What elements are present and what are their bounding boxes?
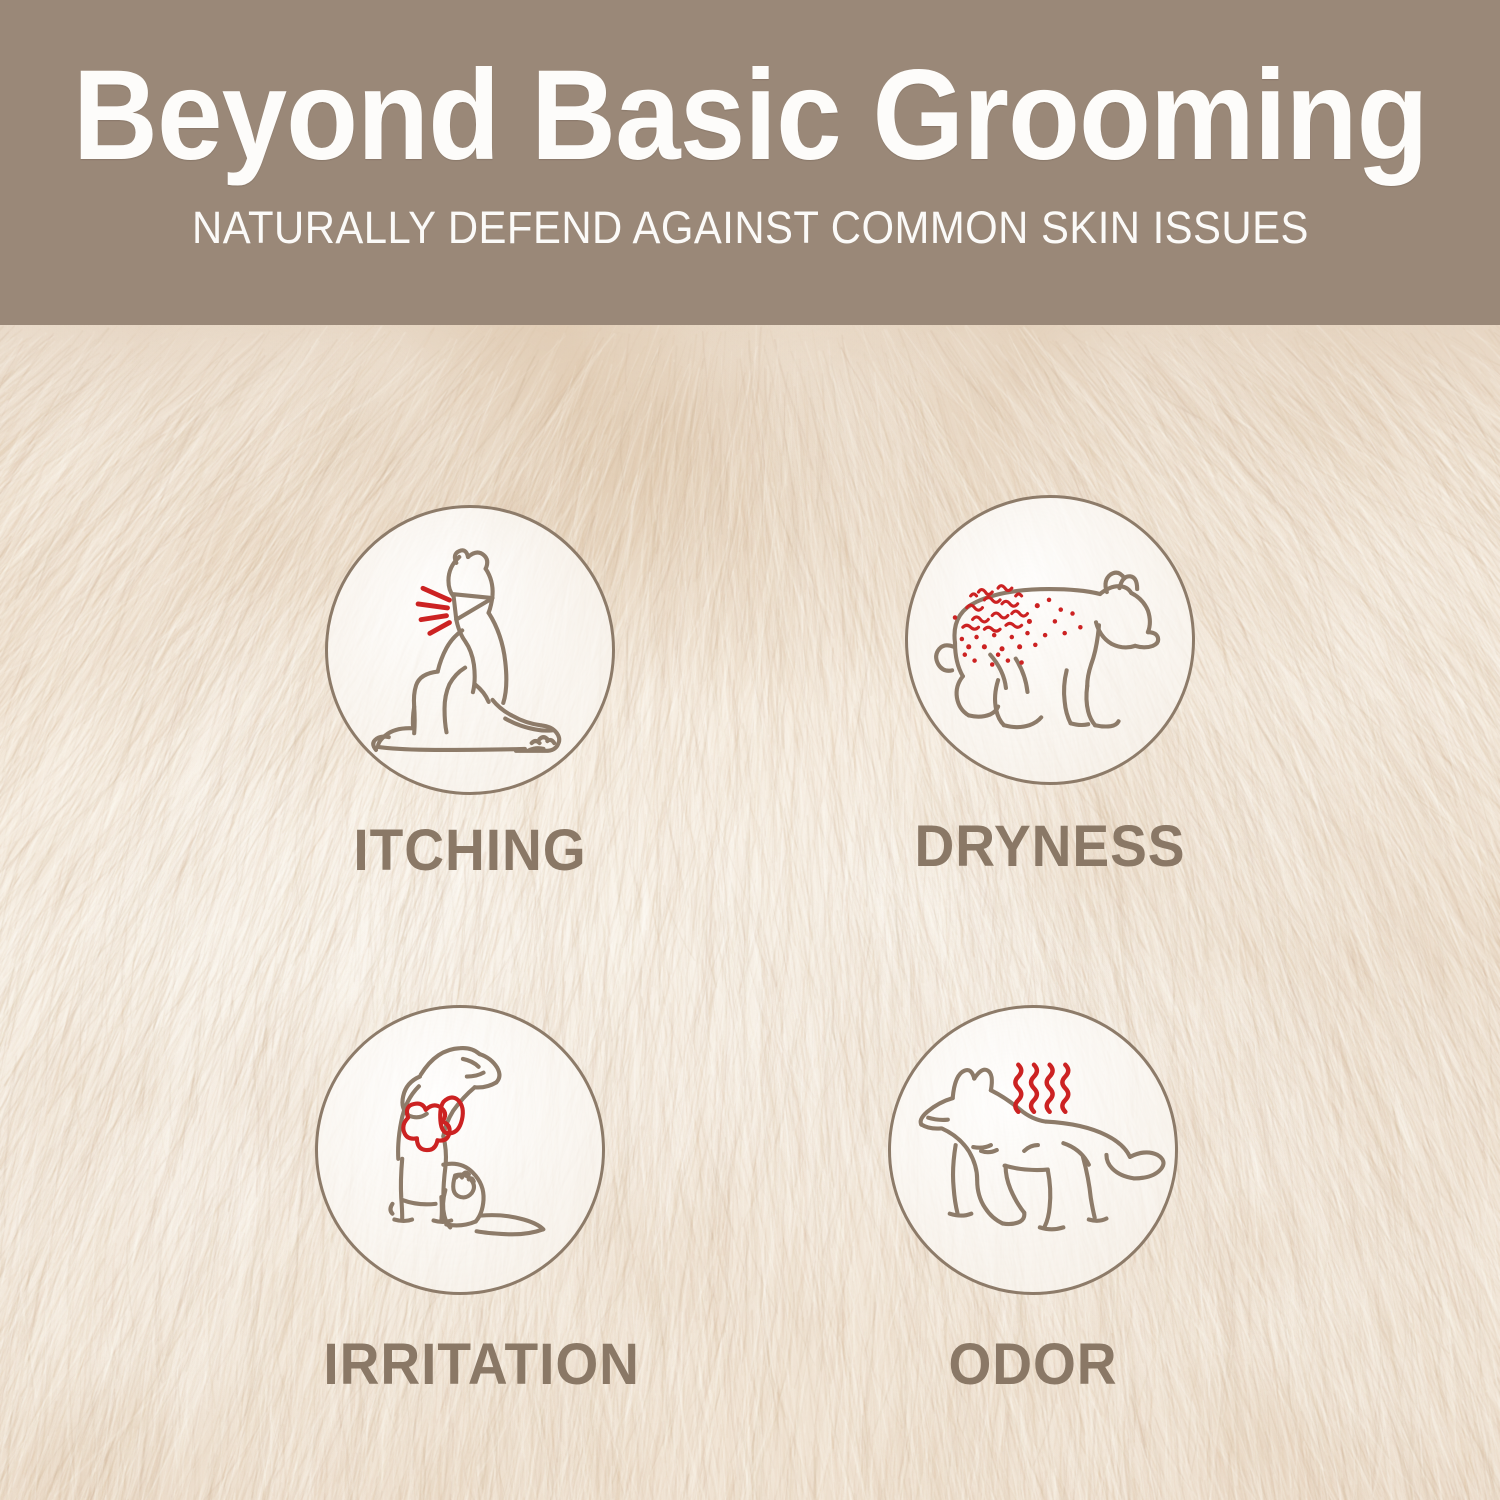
feature-grid: ITCHING	[0, 325, 1500, 1500]
promo-graphic: Beyond Basic Grooming NATURALLY DEFEND A…	[0, 0, 1500, 1500]
feature-label-odor: ODOR	[895, 1331, 1171, 1398]
dog-irritated-patch-icon	[315, 1005, 605, 1295]
feature-item-itching: ITCHING	[325, 505, 615, 884]
feature-label-itching: ITCHING	[332, 817, 608, 884]
dog-odor-icon	[888, 1005, 1178, 1295]
feature-label-irritation: IRRITATION	[323, 1331, 640, 1398]
page-subtitle: NATURALLY DEFEND AGAINST COMMON SKIN ISS…	[192, 180, 1309, 254]
feature-item-irritation: IRRITATION	[315, 1005, 648, 1398]
page-title: Beyond Basic Grooming	[73, 0, 1428, 180]
feature-item-dryness: DRYNESS	[905, 495, 1195, 880]
dog-flaky-skin-icon	[905, 495, 1195, 785]
feature-item-odor: ODOR	[888, 1005, 1178, 1398]
dog-scratching-icon	[325, 505, 615, 795]
feature-label-dryness: DRYNESS	[912, 813, 1188, 880]
header-band: Beyond Basic Grooming NATURALLY DEFEND A…	[0, 0, 1500, 325]
